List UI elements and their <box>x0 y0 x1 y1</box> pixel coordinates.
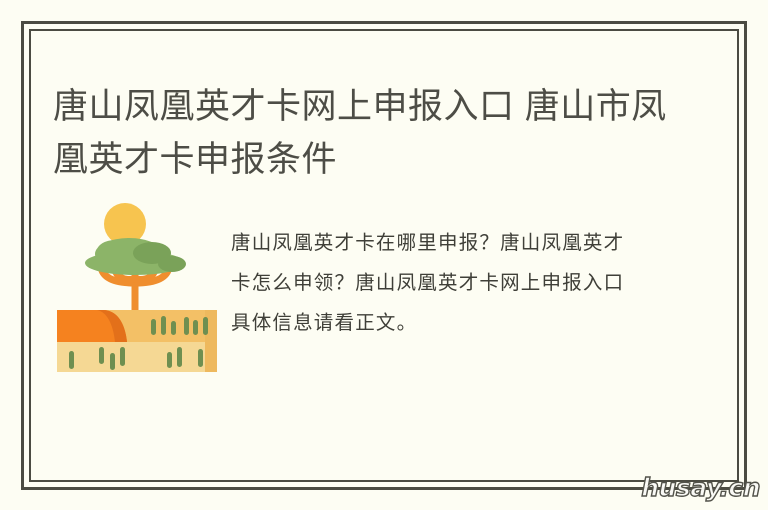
card-content: 唐山凤凰英才卡网上申报入口 唐山市凤凰英才卡申报条件 <box>29 29 739 482</box>
page-title: 唐山凤凰英才卡网上申报入口 唐山市凤凰英才卡申报条件 <box>53 80 673 186</box>
savanna-landscape-icon <box>57 197 217 372</box>
article-card: 唐山凤凰英才卡网上申报入口 唐山市凤凰英才卡申报条件 <box>0 0 768 510</box>
article-summary: 唐山凤凰英才卡在哪里申报？唐山凤凰英才卡怎么申领？唐山凤凰英才卡网上申报入口具体… <box>231 223 643 343</box>
